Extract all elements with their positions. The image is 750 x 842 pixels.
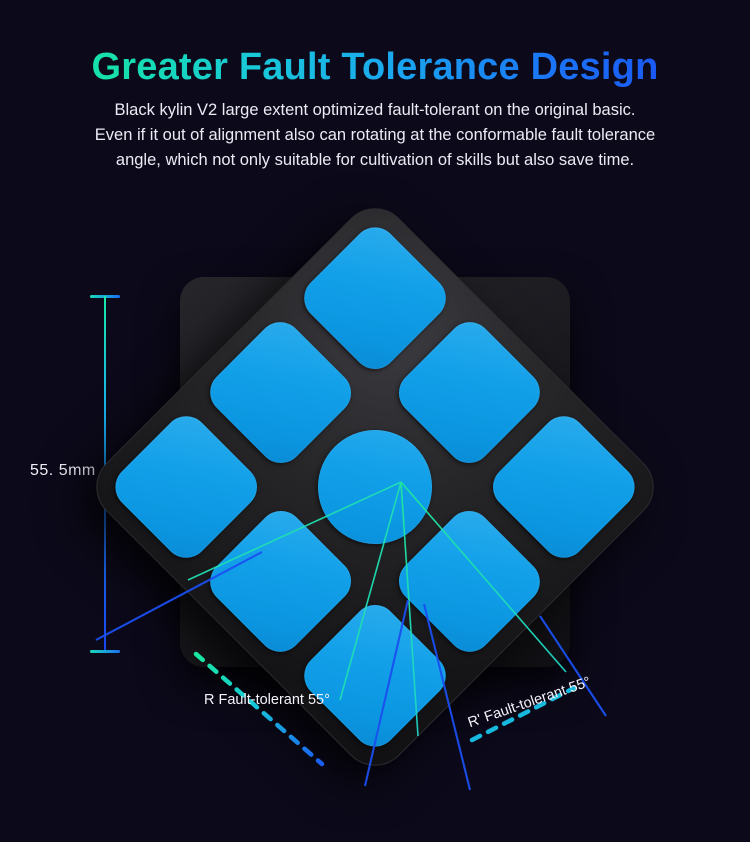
subtitle-line-1: Black kylin V2 large extent optimized fa…	[55, 98, 695, 123]
annotation-r-fault-tolerant: R Fault-tolerant 55°	[204, 692, 330, 708]
subtitle-line-2: Even if it out of alignment also can rot…	[55, 123, 695, 148]
annotation-r-prime-fault-tolerant: R' Fault-tolerant 55°	[466, 674, 593, 731]
subtitle-line-3: angle, which not only suitable for culti…	[55, 148, 695, 173]
subtitle-block: Black kylin V2 large extent optimized fa…	[55, 98, 695, 173]
dimension-label: 55. 5mm	[30, 462, 96, 480]
dimension-tick-bottom	[90, 650, 120, 653]
page-title: Greater Fault Tolerance Design	[0, 48, 750, 88]
product-marketing-banner: Greater Fault Tolerance Design Black kyl…	[0, 0, 750, 842]
